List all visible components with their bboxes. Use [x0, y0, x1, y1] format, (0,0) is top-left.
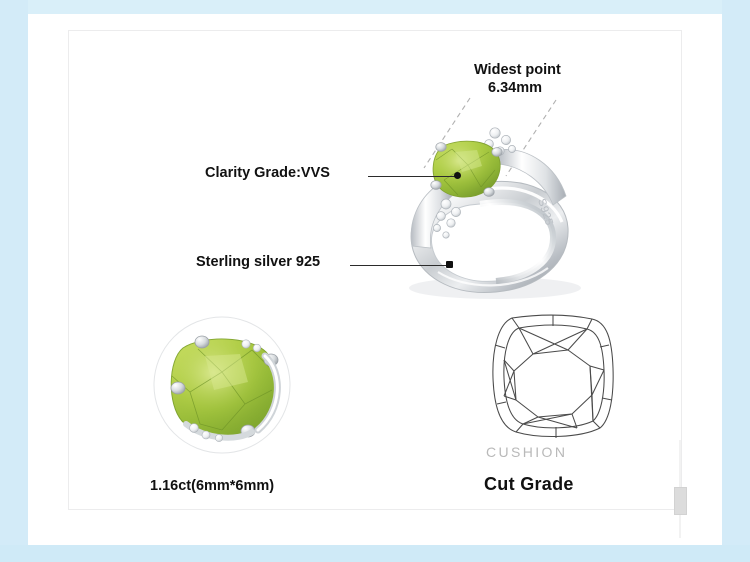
clarity-grade-callout: Clarity Grade:VVS	[205, 165, 330, 183]
page-frame-left	[0, 0, 28, 545]
sterling-leader-line	[350, 265, 450, 266]
product-infographic-page: S925	[0, 0, 750, 562]
carat-weight-caption: 1.16ct(6mm*6mm)	[150, 478, 274, 496]
page-frame-bottom	[0, 545, 750, 562]
clarity-leader-line	[368, 176, 458, 177]
page-frame-right	[722, 0, 750, 545]
infographic-inner-border	[68, 30, 682, 510]
cut-shape-name: CUSHION	[486, 444, 567, 460]
widest-point-line2: 6.34mm	[488, 80, 561, 98]
sterling-silver-callout: Sterling silver 925	[196, 254, 320, 272]
widest-point-line1: Widest point	[474, 62, 561, 78]
cut-grade-title: Cut Grade	[484, 474, 574, 496]
sterling-leader-dot	[446, 261, 453, 268]
widest-point-callout: Widest point 6.34mm	[474, 62, 561, 97]
scrollbar-thumb[interactable]	[674, 487, 687, 515]
page-frame-top	[0, 0, 750, 14]
clarity-leader-dot	[454, 172, 461, 179]
